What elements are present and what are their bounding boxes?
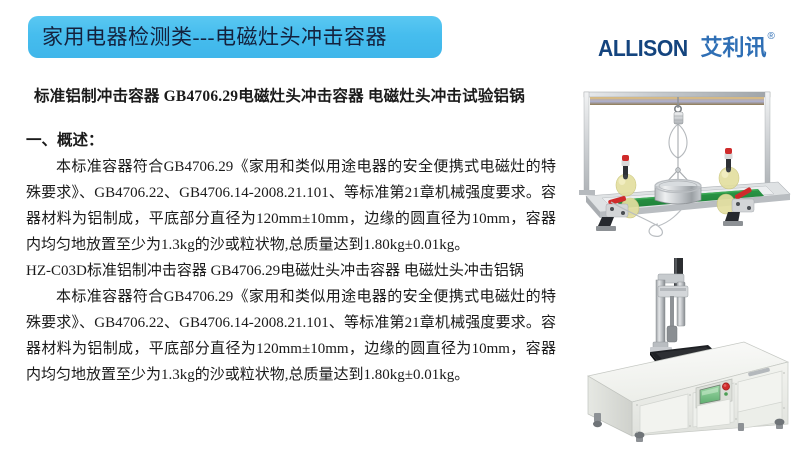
model-line: HZ-C03D标准铝制冲击容器 GB4706.29电磁灶头冲击容器 电磁灶头冲击… — [26, 258, 556, 284]
slide-page: 家用电器检测类---电磁灶头冲击容器 ALLISON 艾利讯 ® 标准铝制冲击容… — [0, 0, 800, 450]
overview-paragraph-2: 本标准容器符合GB4706.29《家用和类似用途电器的安全便携式电磁灶的特殊要求… — [26, 284, 556, 388]
logo-english-text: ALLISON — [598, 37, 688, 60]
registered-trademark-icon: ® — [767, 32, 774, 42]
document-subtitle: 标准铝制冲击容器 GB4706.29电磁灶头冲击容器 电磁灶头冲击试验铝锅 — [34, 84, 556, 106]
overview-paragraph-1: 本标准容器符合GB4706.29《家用和类似用途电器的安全便携式电磁灶的特殊要求… — [26, 154, 556, 258]
impact-test-machine-illustration — [566, 256, 798, 442]
company-logo: ALLISON 艾利讯 ® — [598, 34, 775, 60]
impact-test-rig-photo — [566, 86, 798, 242]
section-heading-overview: 一、概述： — [26, 128, 556, 150]
impact-test-machine-photo — [566, 256, 798, 442]
logo-chinese-text: 艾利讯 — [700, 37, 766, 59]
impact-test-rig-illustration — [566, 86, 798, 242]
document-body: 标准铝制冲击容器 GB4706.29电磁灶头冲击容器 电磁灶头冲击试验铝锅 一、… — [26, 84, 556, 388]
title-banner: 家用电器检测类---电磁灶头冲击容器 — [28, 16, 442, 58]
page-title: 家用电器检测类---电磁灶头冲击容器 — [42, 27, 387, 48]
